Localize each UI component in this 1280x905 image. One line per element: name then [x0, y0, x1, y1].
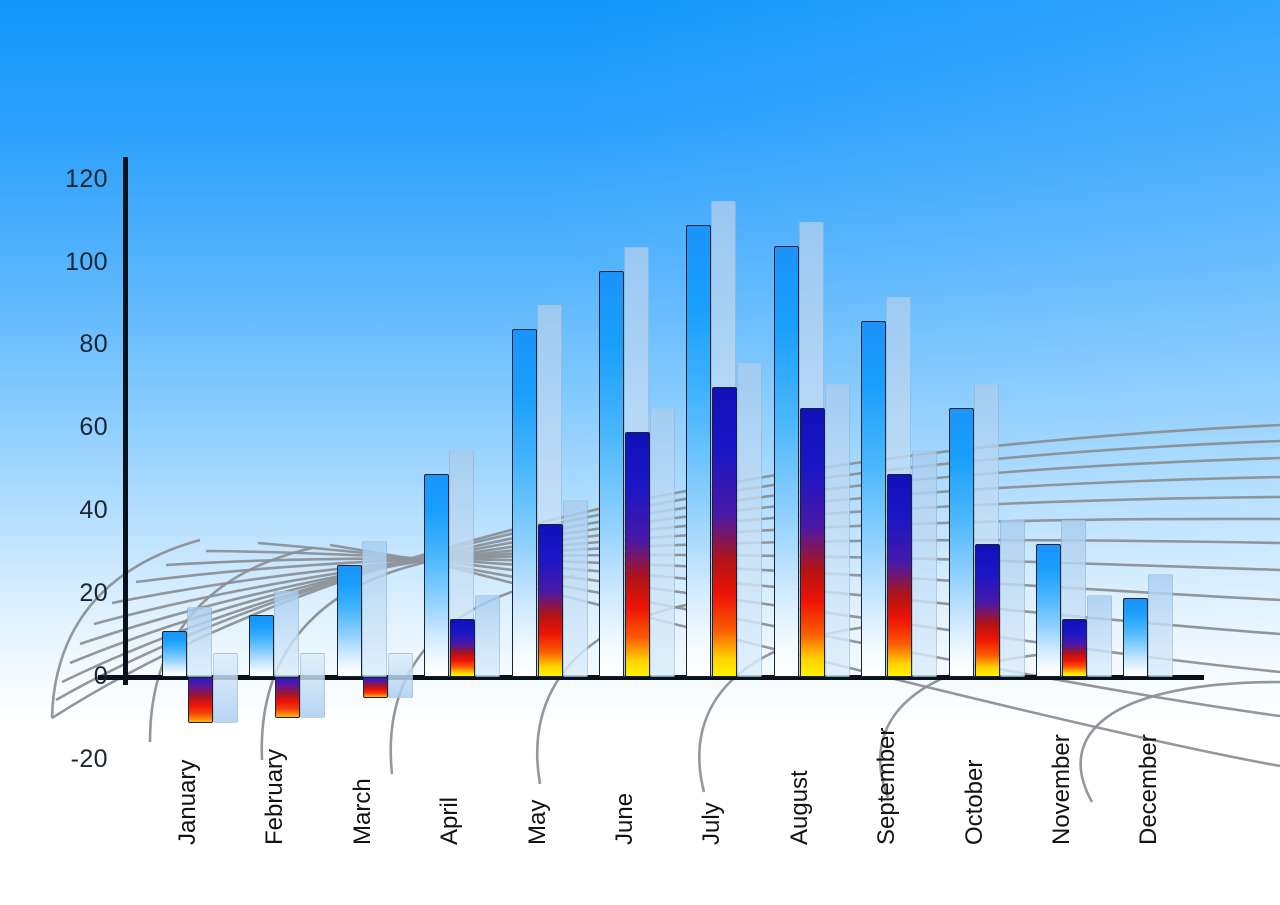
y-tick-label: 120 — [28, 165, 108, 194]
bar-series2-february[interactable] — [275, 677, 300, 718]
x-category-label-august: August — [786, 770, 814, 845]
x-category-label-december: December — [1135, 734, 1163, 845]
x-category-label-may: May — [524, 800, 552, 845]
bar-series2-may[interactable] — [538, 524, 563, 677]
bar-series2-september[interactable] — [887, 474, 912, 677]
bar-series2-april-top-face — [474, 595, 501, 621]
x-category-label-january: January — [174, 760, 202, 845]
bar-series2-february-top-face — [299, 653, 326, 679]
x-category-label-july: July — [698, 802, 726, 845]
x-category-label-june: June — [611, 793, 639, 845]
bar-series2-november-top-face — [1086, 595, 1113, 621]
bar-series2-march[interactable] — [363, 677, 388, 698]
bar-series1-december[interactable] — [1123, 598, 1148, 677]
y-tick-mark — [112, 676, 134, 680]
y-tick-label: -20 — [28, 745, 108, 774]
bar-series1-january[interactable] — [162, 631, 187, 677]
bar-series1-august-top-face — [798, 222, 825, 248]
bar-series1-september-top-face — [885, 297, 912, 323]
bar-series2-august[interactable] — [800, 408, 825, 677]
bar-series2-november[interactable] — [1062, 619, 1087, 677]
bar-series1-march-top-face — [361, 541, 388, 567]
bar-series2-august-depth — [825, 384, 850, 677]
bar-series2-october-top-face — [999, 520, 1026, 546]
y-tick-label: 0 — [28, 662, 108, 691]
bar-series2-may-top-face — [562, 500, 589, 526]
y-tick-label: 60 — [28, 413, 108, 442]
chart-canvas: -20020406080100120 JanuaryFebruaryMarchA… — [0, 0, 1280, 905]
bar-series2-may-depth — [563, 500, 588, 677]
bar-series2-june-top-face — [649, 408, 676, 434]
bar-series2-july[interactable] — [712, 387, 737, 677]
bar-series2-march-top-face — [387, 653, 414, 679]
bar-series2-september-top-face — [911, 450, 938, 476]
bar-series2-june-depth — [650, 408, 675, 677]
bar-series2-june[interactable] — [625, 432, 650, 677]
bar-series1-august[interactable] — [774, 246, 799, 677]
bar-series1-march[interactable] — [337, 565, 362, 677]
bar-series1-july[interactable] — [686, 225, 711, 677]
x-category-label-november: November — [1048, 734, 1076, 845]
x-category-label-october: October — [961, 760, 989, 845]
y-tick-label: 100 — [28, 248, 108, 277]
bar-series2-january-top-face — [212, 653, 239, 679]
bar-series1-september[interactable] — [861, 321, 886, 677]
bar-series1-february[interactable] — [249, 615, 274, 677]
bar-series1-november-top-face — [1060, 520, 1087, 546]
bar-series1-december-top-face — [1147, 574, 1174, 600]
bar-series2-july-depth — [737, 363, 762, 677]
y-tick-label: 80 — [28, 330, 108, 359]
bar-series2-august-top-face — [824, 384, 851, 410]
bar-series2-october[interactable] — [975, 544, 1000, 677]
bar-series1-may-top-face — [536, 305, 563, 331]
x-category-label-september: September — [873, 728, 901, 845]
bar-series1-november[interactable] — [1036, 544, 1061, 677]
bar-series2-september-depth — [912, 450, 937, 677]
bar-series2-july-top-face — [736, 363, 763, 389]
bar-series1-july-top-face — [710, 201, 737, 227]
x-category-label-february: February — [261, 749, 289, 845]
x-category-label-march: March — [349, 778, 377, 845]
bar-series1-june[interactable] — [599, 271, 624, 677]
bar-series1-february-top-face — [273, 591, 300, 617]
bar-series1-june-top-face — [623, 247, 650, 273]
bar-series1-april-top-face — [448, 450, 475, 476]
bar-series1-april[interactable] — [424, 474, 449, 677]
y-tick-label: 40 — [28, 496, 108, 525]
bar-series1-may[interactable] — [512, 329, 537, 677]
bar-series2-january[interactable] — [188, 677, 213, 723]
bar-series2-april[interactable] — [450, 619, 475, 677]
y-tick-label: 20 — [28, 579, 108, 608]
bar-series1-october-top-face — [973, 384, 1000, 410]
x-category-label-april: April — [436, 797, 464, 845]
y-axis-line — [123, 157, 128, 685]
bar-series1-january-top-face — [186, 607, 213, 633]
bar-series1-october[interactable] — [949, 408, 974, 677]
